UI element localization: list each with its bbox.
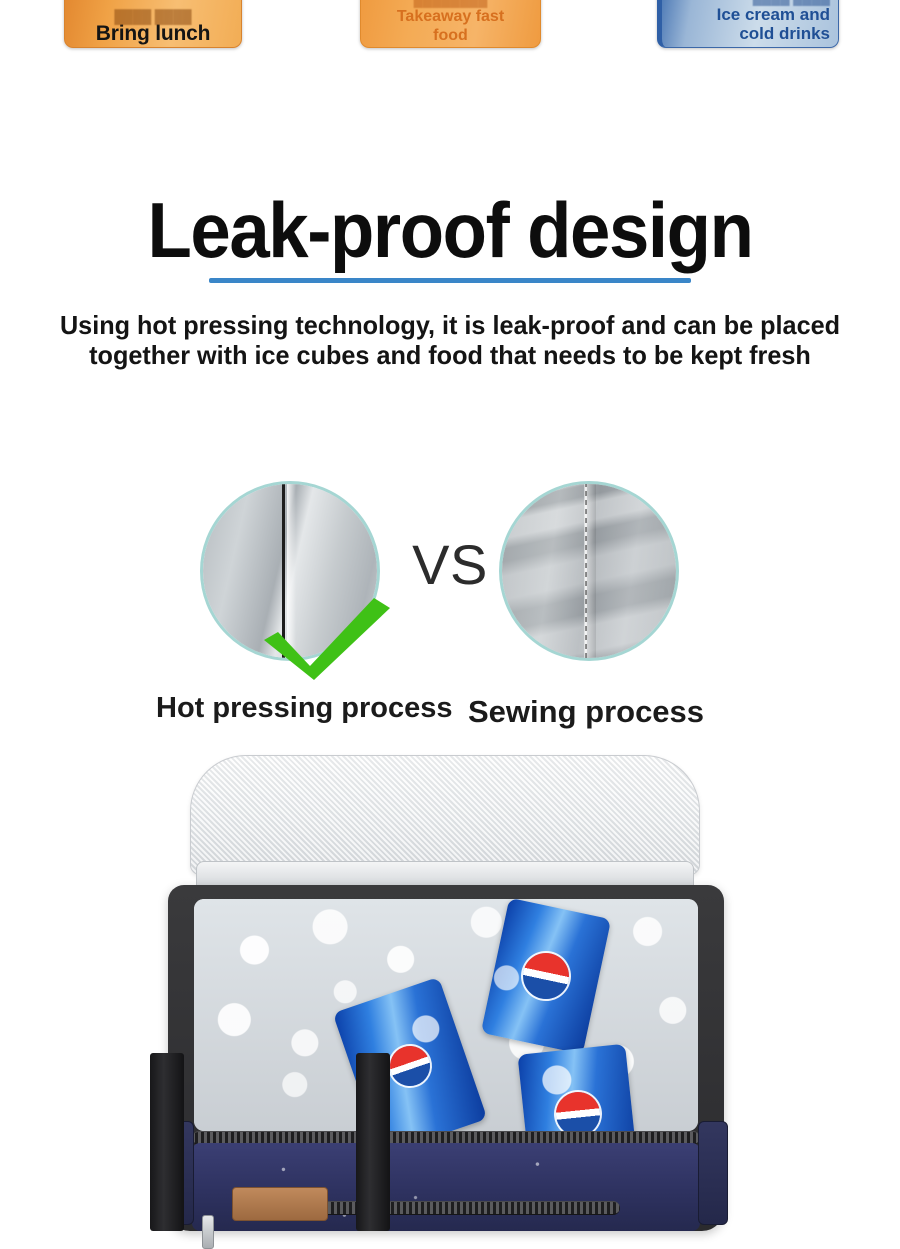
bag-shell xyxy=(168,885,724,1231)
headline-underline-rule xyxy=(209,278,691,283)
comparison-right xyxy=(499,481,679,661)
headline-block: Leak-proof design xyxy=(0,188,900,283)
badge-clipped-text: ████ ████ xyxy=(114,9,191,24)
badge-label-line-2: food xyxy=(433,26,468,45)
heat-welded-seam-image xyxy=(203,484,377,658)
badge-label-line-2: cold drinks xyxy=(739,24,830,43)
badge-ice-cream-cold-drinks[interactable]: ████ ████ Ice cream and cold drinks xyxy=(657,0,839,48)
can-logo xyxy=(554,1090,602,1131)
carry-strap-right xyxy=(356,1053,390,1231)
subtitle-text: Using hot pressing technology, it is lea… xyxy=(27,310,873,370)
seam-photo-sewing xyxy=(499,481,679,661)
page-title: Leak-proof design xyxy=(32,188,869,272)
bag-interior-compartment xyxy=(194,899,698,1131)
badge-takeaway-fast-food[interactable]: ████████ Takeaway fast food xyxy=(360,0,541,48)
vs-label: VS xyxy=(380,532,520,597)
brand-leather-patch xyxy=(232,1187,328,1221)
badge-label-line-1: Ice cream and xyxy=(717,5,830,24)
badge-label: Bring lunch xyxy=(96,24,210,43)
comparison-left xyxy=(200,481,380,661)
top-badge-strip: ████ ████ Bring lunch ████████ Takeaway … xyxy=(0,0,900,48)
badge-bring-lunch[interactable]: ████ ████ Bring lunch xyxy=(64,0,242,48)
bag-lid-insulated-flap xyxy=(190,755,700,875)
can-logo xyxy=(385,1041,436,1092)
badge-label-line-1: Takeaway fast xyxy=(397,7,504,26)
soda-can xyxy=(518,1044,639,1131)
seam-photo-hot-pressing xyxy=(200,481,380,661)
zipper-pull-tab xyxy=(202,1215,214,1249)
carry-strap-left xyxy=(150,1053,184,1231)
product-photo-cooler-bag xyxy=(0,735,900,1231)
caption-sewing-process: Sewing process xyxy=(468,694,704,730)
badge-clipped-text: ████████ xyxy=(414,0,488,7)
badge-clipped-text: ████ ████ xyxy=(753,0,830,5)
side-pocket-right xyxy=(698,1121,728,1225)
can-logo xyxy=(519,949,574,1004)
caption-hot-pressing-process: Hot pressing process xyxy=(156,692,453,725)
stitched-seam-image xyxy=(502,484,676,658)
